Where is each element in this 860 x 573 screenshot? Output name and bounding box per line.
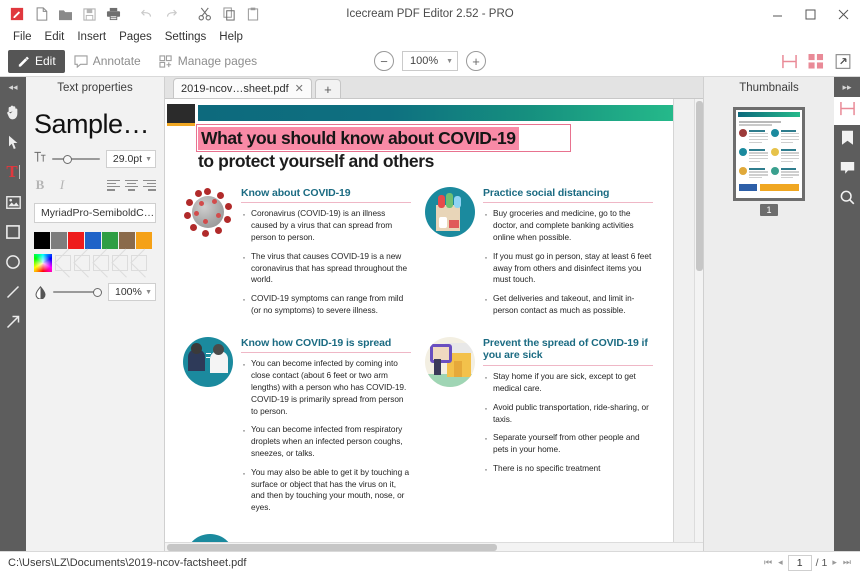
menu-bar: File Edit Insert Pages Settings Help (0, 28, 860, 46)
align-center-icon[interactable] (125, 180, 138, 191)
first-page-button[interactable]: ⏮ (763, 557, 773, 568)
mode-edit-label: Edit (35, 54, 56, 68)
cursor-arrow-icon (8, 135, 19, 150)
thumbnails-title: Thumbnails (704, 77, 834, 99)
split-view-icon (839, 101, 856, 121)
divider (241, 352, 411, 353)
list-item: You may also be able to get it by touchi… (241, 467, 411, 514)
text-T-icon: T (6, 162, 17, 182)
image-icon (6, 196, 21, 209)
opacity-value-box[interactable]: 100% ▼ (108, 283, 156, 301)
menu-file[interactable]: File (7, 30, 38, 44)
align-left-icon[interactable] (107, 180, 120, 191)
text-caret-icon (19, 165, 20, 179)
document-area: 2019-ncov…sheet.pdf ✕ + What you should … (165, 77, 703, 551)
redo-icon[interactable] (160, 3, 182, 25)
line-tool[interactable] (0, 277, 26, 307)
copy-icon[interactable] (218, 3, 240, 25)
menu-edit[interactable]: Edit (39, 30, 71, 44)
search-button[interactable] (834, 185, 860, 215)
print-icon[interactable] (102, 3, 124, 25)
mode-annotate-label: Annotate (93, 54, 141, 68)
section-heading: Know how COVID-19 is spread (241, 337, 411, 350)
single-page-view-icon[interactable] (780, 52, 798, 70)
color-swatch-black[interactable] (34, 232, 50, 249)
undo-icon[interactable] (136, 3, 158, 25)
divider (241, 202, 411, 203)
list-item: You can become infected by coming into c… (241, 358, 411, 417)
font-size-row: 29.0pt ▼ (34, 150, 156, 168)
split-view-button[interactable] (834, 97, 860, 125)
hand-icon (6, 104, 20, 120)
close-button[interactable] (827, 0, 860, 28)
left-column: Know about COVID-19 Coronavirus (COVID-1… (183, 187, 411, 551)
page-navigation: ⏮ ◂ 1 / 1 ▸ ⏭ (763, 555, 852, 571)
opacity-drop-icon (34, 285, 47, 299)
mode-manage-pages-label: Manage pages (178, 54, 257, 68)
header-gradient-bar (198, 105, 673, 121)
opacity-value: 100% (115, 286, 142, 298)
menu-settings[interactable]: Settings (159, 30, 213, 44)
application-window: Icecream PDF Editor 2.52 - PRO File Edit… (0, 0, 860, 573)
maximize-button[interactable] (794, 0, 827, 28)
empty-color-slot[interactable] (112, 255, 128, 271)
text-properties-title: Text properties (26, 77, 164, 99)
list-item: If you must go in person, stay at least … (483, 251, 653, 286)
bullet-list: Coronavirus (COVID-19) is an illness cau… (241, 208, 411, 316)
bullet-list: You can become infected by coming into c… (241, 358, 411, 513)
list-item: You can become infected from respiratory… (241, 424, 411, 459)
comment-icon (840, 161, 855, 180)
color-swatch-green[interactable] (102, 232, 118, 249)
stay-home-illustration (425, 337, 475, 387)
alignment-group (107, 180, 156, 191)
empty-color-slot[interactable] (131, 255, 147, 271)
empty-color-slot[interactable] (93, 255, 109, 271)
color-swatch-orange[interactable] (136, 232, 152, 249)
cut-icon[interactable] (194, 3, 216, 25)
comment-button[interactable] (834, 155, 860, 185)
divider (483, 365, 653, 366)
view-mode-buttons (780, 52, 852, 70)
list-item: Separate yourself from other people and … (483, 432, 653, 456)
current-page-input[interactable]: 1 (788, 555, 812, 571)
quick-access-toolbar (0, 3, 264, 25)
last-page-button[interactable]: ⏭ (842, 557, 852, 568)
section-how-covid-spreads: Know how COVID-19 is spread You can beco… (183, 337, 411, 521)
bold-button[interactable]: B (34, 177, 46, 193)
groceries-bag-illustration (425, 187, 475, 237)
thumbnails-list: 1 (704, 99, 834, 551)
bullet-list: Buy groceries and medicine, go to the do… (483, 208, 653, 316)
document-tab-label: 2019-ncov…sheet.pdf (181, 83, 289, 95)
zoom-out-button[interactable]: − (374, 51, 394, 71)
horizontal-scrollbar[interactable] (165, 542, 703, 551)
font-size-icon (34, 150, 46, 168)
rectangle-tool[interactable] (0, 217, 26, 247)
chevron-down-icon: ▼ (154, 210, 156, 217)
list-item: Get deliveries and takeout, and limit in… (483, 293, 653, 317)
mode-toolbar: Edit Annotate Manage pages − 100% ▼ + (0, 46, 860, 77)
font-size-slider[interactable] (52, 153, 100, 165)
paste-icon[interactable] (242, 3, 264, 25)
hand-tool[interactable] (0, 97, 26, 127)
rainbow-color-picker[interactable] (34, 254, 52, 272)
bookmark-button[interactable] (834, 125, 860, 155)
close-icon[interactable]: ✕ (295, 82, 304, 95)
pages-grid-icon (159, 55, 173, 68)
pdf-canvas[interactable]: What you should know about COVID-19 to p… (165, 99, 703, 551)
list-item: Avoid public transportation, ride-sharin… (483, 402, 653, 426)
comment-icon (74, 55, 88, 68)
zoom-in-button[interactable]: + (466, 51, 486, 71)
divider (483, 202, 653, 203)
right-column: Practice social distancing Buy groceries… (425, 187, 653, 551)
color-swatch-red[interactable] (68, 232, 84, 249)
save-icon[interactable] (78, 3, 100, 25)
font-size-dropdown[interactable]: 29.0pt ▼ (106, 150, 156, 168)
section-know-about-covid: Know about COVID-19 Coronavirus (COVID-1… (183, 187, 411, 324)
document-subtitle-text[interactable]: to protect yourself and others (198, 151, 673, 172)
cdc-logo (167, 104, 195, 123)
file-path-label: C:\Users\LZ\Documents\2019-ncov-factshee… (8, 557, 246, 569)
text-tool[interactable]: T (0, 157, 26, 187)
chevron-down-icon: ▼ (145, 156, 152, 163)
vertical-scrollbar[interactable] (694, 99, 703, 551)
next-page-button[interactable]: ▸ (831, 557, 838, 568)
minimize-button[interactable] (761, 0, 794, 28)
list-item: Stay home if you are sick, except to get… (483, 371, 653, 395)
text-selection-box[interactable] (196, 124, 571, 152)
empty-color-slot[interactable] (74, 255, 90, 271)
main-body: ◂◂ T (0, 77, 860, 551)
fullscreen-icon[interactable] (834, 52, 852, 70)
people-coughing-illustration (183, 337, 233, 387)
section-practice-social-distancing: Practice social distancing Buy groceries… (425, 187, 653, 324)
list-item: The virus that causes COVID-19 is a new … (241, 251, 411, 286)
empty-color-slot[interactable] (55, 255, 71, 271)
search-icon (840, 190, 855, 210)
list-item: There is no specific treatment (483, 463, 653, 475)
line-icon (6, 285, 20, 299)
pdf-page[interactable]: What you should know about COVID-19 to p… (165, 99, 673, 551)
color-swatch-gray[interactable] (51, 232, 67, 249)
zoom-level-dropdown[interactable]: 100% ▼ (402, 51, 458, 71)
new-document-icon[interactable] (6, 3, 28, 25)
window-controls (761, 0, 860, 28)
section-prevent-spread-if-sick: Prevent the spread of COVID-19 if you ar… (425, 337, 653, 482)
arrow-icon (6, 315, 20, 329)
image-tool[interactable] (0, 187, 26, 217)
tool-rail: ◂◂ T (0, 77, 26, 551)
thumbnails-panel: Thumbnails (703, 77, 834, 551)
chevron-down-icon: ▼ (145, 289, 152, 296)
italic-button[interactable]: I (56, 177, 68, 193)
new-file-icon[interactable] (30, 3, 52, 25)
chevron-down-icon: ▼ (446, 58, 453, 65)
list-item: Buy groceries and medicine, go to the do… (483, 208, 653, 243)
zoom-controls: − 100% ▼ + (374, 51, 486, 71)
open-folder-icon[interactable] (54, 3, 76, 25)
font-family-value: MyriadPro-SemiboldC… (41, 207, 154, 219)
title-bar: Icecream PDF Editor 2.52 - PRO (0, 0, 860, 28)
right-rail: ▸▸ (834, 77, 860, 551)
list-item: Coronavirus (COVID-19) is an illness cau… (241, 208, 411, 243)
section-heading: Practice social distancing (483, 187, 653, 200)
menu-insert[interactable]: Insert (71, 30, 112, 44)
menu-pages[interactable]: Pages (113, 30, 158, 44)
previous-page-button[interactable]: ◂ (777, 557, 784, 568)
arrow-tool[interactable] (0, 307, 26, 337)
align-right-icon[interactable] (143, 180, 156, 191)
select-tool[interactable] (0, 127, 26, 157)
font-style-row: B I (34, 177, 156, 193)
grid-view-icon[interactable] (807, 52, 825, 70)
document-columns: Know about COVID-19 Coronavirus (COVID-1… (165, 187, 673, 551)
menu-help[interactable]: Help (213, 30, 249, 44)
collapse-right-panel-button[interactable]: ▸▸ (834, 77, 860, 97)
font-size-value: 29.0pt (113, 153, 142, 165)
mode-edit-button[interactable]: Edit (8, 50, 65, 73)
status-bar: C:\Users\LZ\Documents\2019-ncov-factshee… (0, 551, 860, 573)
section-heading: Prevent the spread of COVID-19 if you ar… (483, 337, 653, 363)
document-tab[interactable]: 2019-ncov…sheet.pdf ✕ (173, 78, 312, 98)
text-properties-panel: Text properties Sample… 29.0pt ▼ (26, 77, 165, 551)
circle-icon (6, 255, 20, 269)
document-tab-bar: 2019-ncov…sheet.pdf ✕ + (165, 77, 703, 99)
list-item: COVID-19 symptoms can range from mild (o… (241, 293, 411, 317)
total-pages-label: / 1 (816, 557, 828, 569)
color-swatches (34, 232, 156, 249)
opacity-slider[interactable] (53, 286, 102, 298)
document-title-block[interactable]: What you should know about COVID-19 (198, 127, 598, 150)
mode-annotate-button[interactable]: Annotate (65, 50, 150, 73)
color-swatch-blue[interactable] (85, 232, 101, 249)
ellipse-tool[interactable] (0, 247, 26, 277)
mode-manage-pages-button[interactable]: Manage pages (150, 50, 266, 73)
bookmark-icon (841, 130, 854, 151)
custom-color-row (34, 254, 156, 272)
opacity-row: 100% ▼ (34, 283, 156, 301)
section-heading: Know about COVID-19 (241, 187, 411, 200)
color-swatch-brown[interactable] (119, 232, 135, 249)
new-tab-button[interactable]: + (315, 79, 341, 98)
square-icon (6, 225, 20, 239)
thumbnail-page-number: 1 (760, 204, 777, 216)
font-family-dropdown[interactable]: MyriadPro-SemiboldC… ▼ (34, 203, 156, 223)
pencil-icon (17, 55, 30, 68)
coronavirus-illustration (183, 187, 233, 237)
collapse-left-panel-button[interactable]: ◂◂ (0, 77, 26, 97)
bullet-list: Stay home if you are sick, except to get… (483, 371, 653, 474)
thumbnail-page-1[interactable] (733, 107, 805, 201)
zoom-level-value: 100% (410, 55, 438, 67)
font-preview-sample: Sample… (34, 109, 156, 140)
